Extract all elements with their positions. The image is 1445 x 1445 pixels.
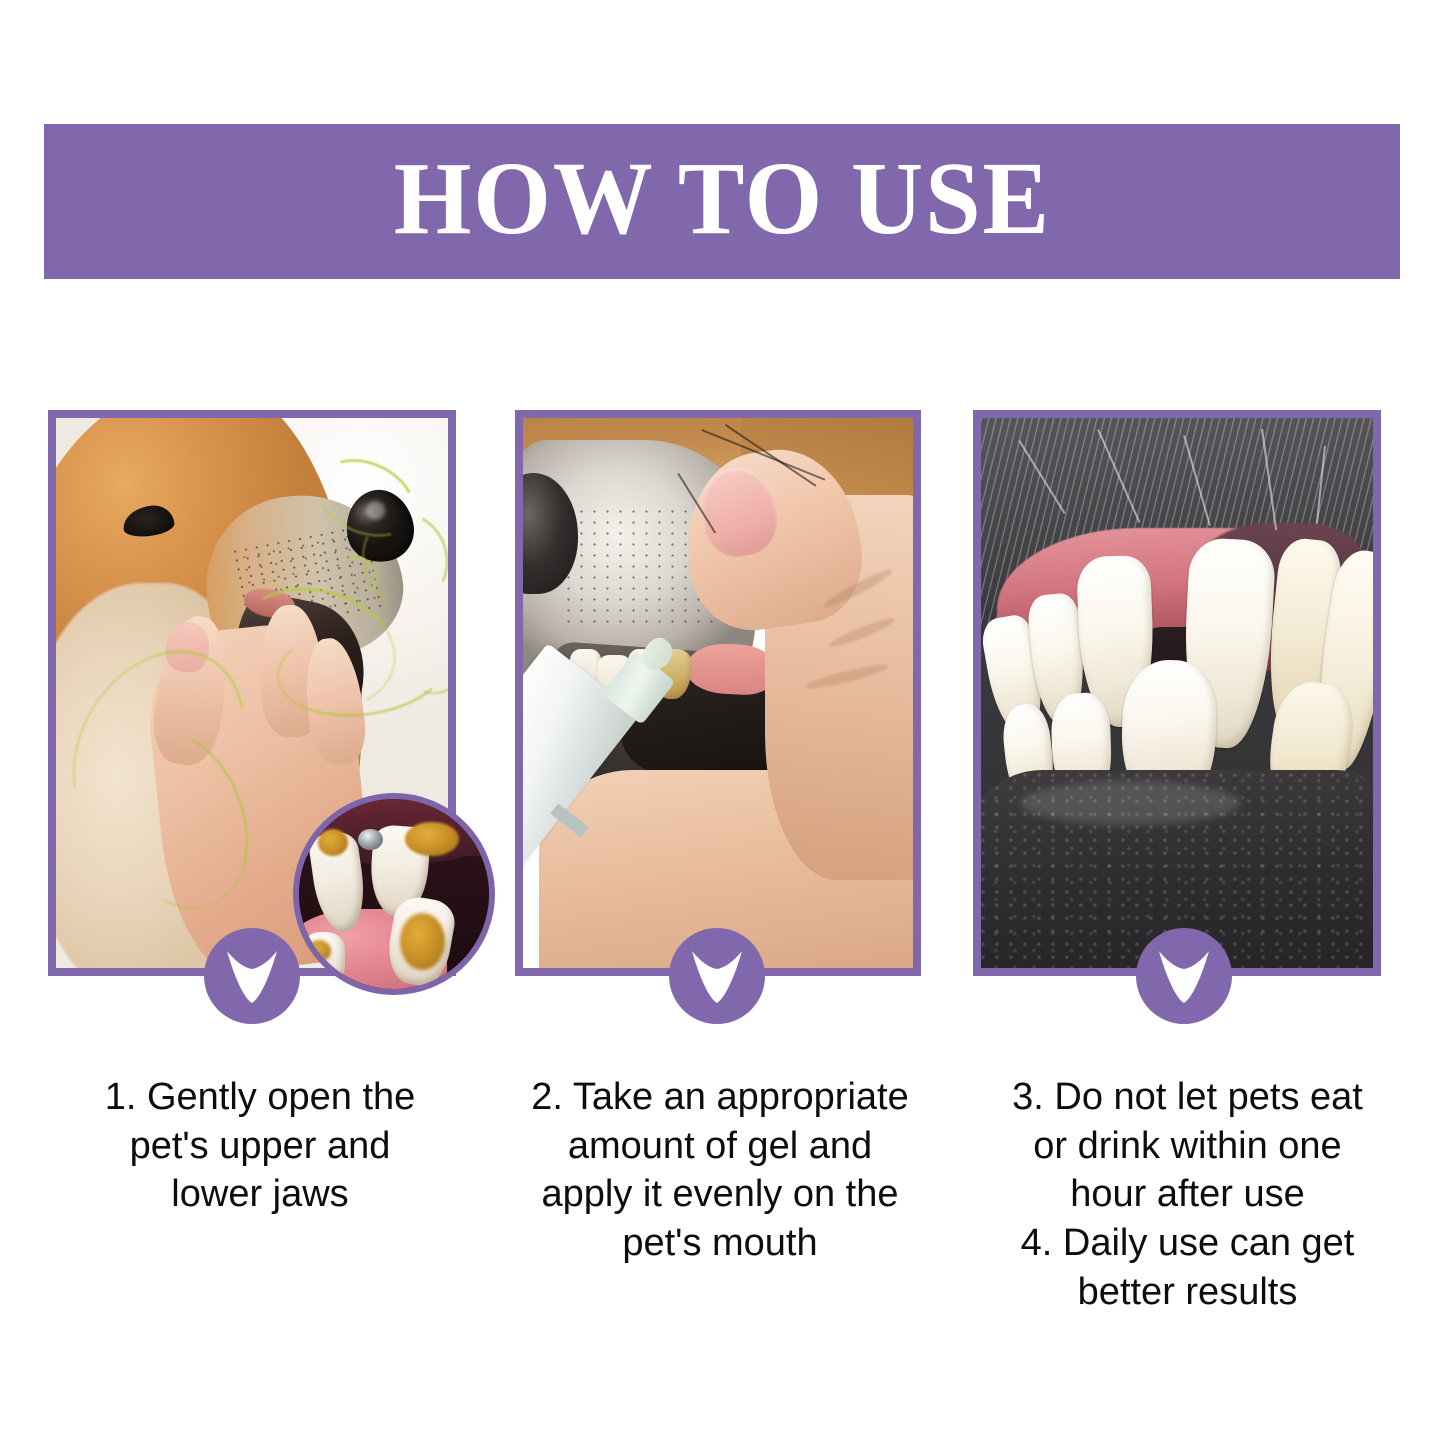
title-banner: HOW TO USE: [44, 124, 1400, 279]
step-2-photo-applying-gel: [523, 418, 913, 968]
inset-tartar-deposit: [405, 822, 458, 856]
step-3-chevron-badge: [1136, 928, 1232, 1024]
chevron-down-icon: [1157, 947, 1211, 1005]
chevron-down-icon: [690, 947, 744, 1005]
inset-tartar-deposit: [400, 913, 446, 970]
step-2-caption: 2. Take an appropriate amount of gel and…: [500, 1073, 940, 1268]
step-3-caption: 3. Do not let pets eat or drink within o…: [975, 1073, 1400, 1316]
infographic-page: HOW TO USE: [0, 0, 1445, 1445]
inset-metal-highlight: [358, 829, 383, 850]
page-title: HOW TO USE: [393, 147, 1050, 257]
step-1-chevron-badge: [204, 928, 300, 1024]
chevron-down-icon: [225, 947, 279, 1005]
dog-tongue: [686, 641, 774, 695]
steps-caption-row: 1. Gently open the pet's upper and lower…: [0, 1073, 1445, 1373]
dog-lip-highlight: [1020, 781, 1240, 825]
step-2-chevron-badge: [669, 928, 765, 1024]
step-1-caption: 1. Gently open the pet's upper and lower…: [50, 1073, 470, 1219]
steps-panel-row: [0, 410, 1445, 976]
step-3-photo-clean-teeth: [981, 418, 1373, 968]
step-2-image-frame: [515, 410, 921, 976]
step-3-image-frame: [973, 410, 1381, 976]
step-1-tartar-closeup-inset: [293, 793, 495, 995]
